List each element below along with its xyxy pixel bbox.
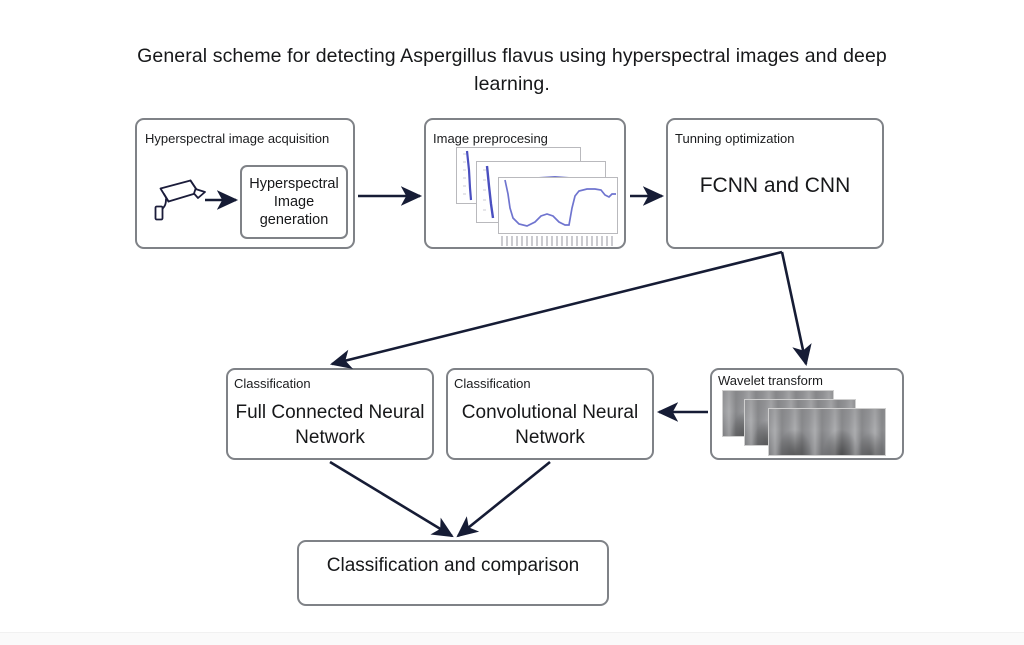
wavelet-image-front [768,408,886,456]
edge-tunning-to-wavelet [782,252,806,364]
node-acquisition-inner-label: Hyperspectral Image generation [242,175,346,229]
spectral-chart-front [498,177,618,234]
node-wavelet-caption: Wavelet transform [718,373,823,388]
wavelet-scalogram-images [722,390,894,456]
spectral-curve-charts [434,147,619,245]
node-fcnn-label: Full Connected Neural Network [230,400,430,450]
node-tunning-label: FCNN and CNN [666,173,884,199]
edge-tunning-to-fcnn [332,252,782,364]
edge-cnn-to-result [458,462,550,536]
node-acquisition-caption: Hyperspectral image acquisition [145,131,329,146]
node-acquisition-inner-box[interactable]: Hyperspectral Image generation [240,165,348,239]
cctv-camera-icon [150,172,212,224]
spectral-chart-axis-ticks [498,234,618,245]
figure-title: General scheme for detecting Aspergillus… [112,42,912,98]
node-result-label: Classification and comparison [307,553,599,578]
node-tunning-caption: Tunning optimization [675,131,794,146]
page-bottom-strip [0,632,1024,645]
node-fcnn-caption: Classification [234,376,311,391]
diagram-canvas: General scheme for detecting Aspergillus… [0,0,1024,644]
node-preprocessing-caption: Image preprocesing [433,131,548,146]
edge-fcnn-to-result [330,462,452,536]
node-cnn-caption: Classification [454,376,531,391]
node-cnn-label: Convolutional Neural Network [448,400,652,450]
